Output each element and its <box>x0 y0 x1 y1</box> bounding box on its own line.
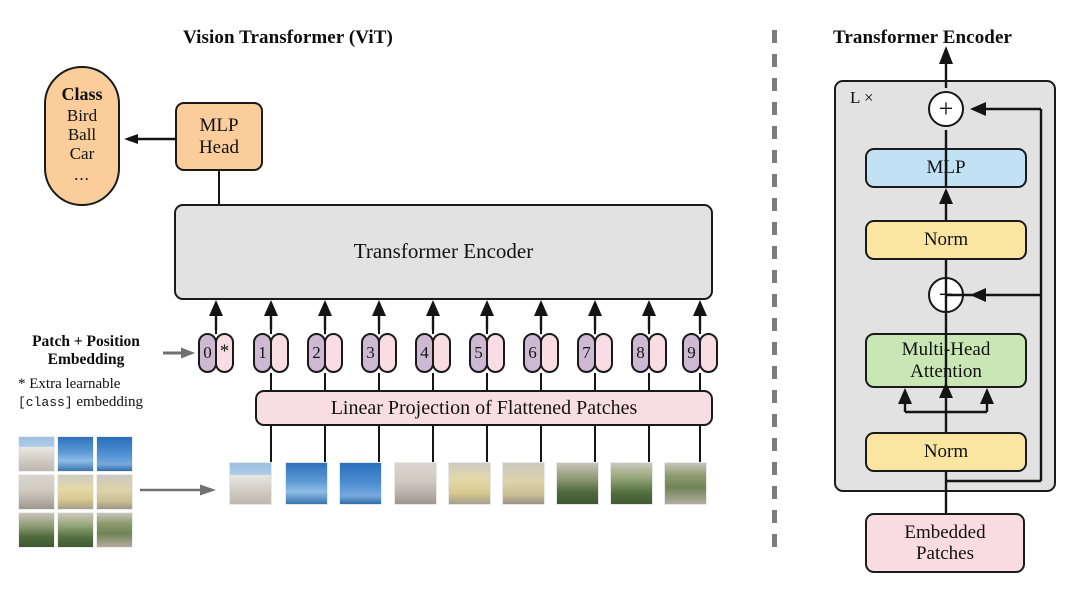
connector-encoder-to-mlphead <box>218 170 220 206</box>
left-panel-title: Vision Transformer (ViT) <box>183 27 393 49</box>
flattened-image-patch <box>285 462 328 505</box>
class-item-car: Car <box>70 144 95 163</box>
class-token-asterisk: * <box>215 333 234 373</box>
patch-embedding-token <box>324 333 343 373</box>
vit-architecture-figure: Vision Transformer (ViT) Transformer Enc… <box>0 0 1080 593</box>
flattened-image-patch <box>394 462 437 505</box>
embedding-token-8: 8 <box>631 333 667 373</box>
source-image-patch-cell <box>57 474 94 510</box>
linear-projection-label: Linear Projection of Flattened Patches <box>331 397 638 419</box>
patch-embedding-token <box>699 333 718 373</box>
mlp-head-label-line1: MLP <box>199 115 238 136</box>
flattened-image-patch <box>229 462 272 505</box>
source-image-patch-cell <box>18 474 55 510</box>
residual-add-top: + <box>928 91 964 127</box>
patch-position-label-line2: Embedding <box>48 351 125 368</box>
layer-repeat-label: L × <box>850 88 874 108</box>
projection-to-patch-stem <box>540 426 542 463</box>
token-top-stem <box>270 318 272 334</box>
encoder-multihead-attention-block: Multi-Head Attention <box>865 333 1027 388</box>
embedded-patches-block: Embedded Patches <box>865 513 1025 573</box>
encoder-norm-upper-label: Norm <box>924 229 968 250</box>
flattened-image-patch <box>448 462 491 505</box>
class-item-ball: Ball <box>68 125 96 144</box>
projection-to-patch-stem <box>648 426 650 463</box>
class-token-code: [class] <box>18 395 73 410</box>
right-panel-title: Transformer Encoder <box>833 27 1012 49</box>
projection-to-patch-stem <box>324 426 326 463</box>
embedded-patches-line2: Patches <box>916 543 974 564</box>
encoder-norm-lower-label: Norm <box>924 441 968 462</box>
token-to-projection-stem <box>699 373 701 391</box>
source-image-patch-cell <box>57 436 94 472</box>
projection-to-patch-stem <box>486 426 488 463</box>
token-to-projection-stem <box>378 373 380 391</box>
projection-to-patch-stem <box>594 426 596 463</box>
patch-embedding-token <box>486 333 505 373</box>
token-to-projection-stem <box>540 373 542 391</box>
arrow-label-to-tokens <box>163 347 195 359</box>
source-image-patch-cell <box>96 436 133 472</box>
source-image-patch-cell <box>18 512 55 548</box>
patch-embedding-token <box>540 333 559 373</box>
patch-embedding-token <box>270 333 289 373</box>
flattened-image-patch <box>664 462 707 505</box>
projection-to-patch-stem <box>432 426 434 463</box>
patch-embedding-token <box>378 333 397 373</box>
transformer-encoder-block: Transformer Encoder <box>174 204 713 300</box>
token-to-projection-stem <box>432 373 434 391</box>
mlp-head-box: MLP Head <box>175 102 263 171</box>
encoder-mlp-label: MLP <box>926 157 965 178</box>
token-to-projection-stem <box>594 373 596 391</box>
token-to-projection-stem <box>648 373 650 391</box>
transformer-encoder-label: Transformer Encoder <box>354 240 533 264</box>
embedding-token-0: 0* <box>198 333 234 373</box>
class-items-ellipsis: ... <box>74 165 90 184</box>
token-top-stem <box>378 318 380 334</box>
mha-label-line2: Attention <box>910 361 982 382</box>
flattened-image-patch <box>339 462 382 505</box>
embedding-token-5: 5 <box>469 333 505 373</box>
encoder-mlp-block: MLP <box>865 148 1027 188</box>
projection-to-patch-stem <box>699 426 701 463</box>
embedding-token-2: 2 <box>307 333 343 373</box>
token-top-stem <box>594 318 596 334</box>
source-image-patch-grid <box>18 436 135 551</box>
token-to-projection-stem <box>486 373 488 391</box>
token-to-projection-stem <box>324 373 326 391</box>
class-item-bird: Bird <box>67 106 97 125</box>
patch-embedding-token <box>432 333 451 373</box>
token-to-projection-stem <box>270 373 272 391</box>
arrow-mlphead-to-class <box>124 134 176 144</box>
projection-to-patch-stem <box>378 426 380 463</box>
projection-to-patch-stem <box>270 426 272 463</box>
source-image-patch-cell <box>96 512 133 548</box>
extra-learnable-class-note: * Extra learnable [class] embedding <box>18 375 168 411</box>
embedded-patches-line1: Embedded <box>904 522 985 543</box>
token-top-stem <box>648 318 650 334</box>
mha-label-line1: Multi-Head <box>902 339 991 360</box>
source-image-patch-cell <box>57 512 94 548</box>
encoder-norm-block-upper: Norm <box>865 220 1027 260</box>
class-label-header: Class <box>61 84 102 104</box>
encoder-norm-block-lower: Norm <box>865 432 1027 472</box>
token-top-stem <box>432 318 434 334</box>
flattened-image-patch <box>502 462 545 505</box>
panel-divider <box>772 30 777 555</box>
embedding-token-7: 7 <box>577 333 613 373</box>
embedding-token-4: 4 <box>415 333 451 373</box>
source-image-patch-cell <box>96 474 133 510</box>
token-top-stem <box>324 318 326 334</box>
patch-position-label-line1: Patch + Position <box>32 333 140 350</box>
embedding-token-1: 1 <box>253 333 289 373</box>
flattened-image-patch <box>610 462 653 505</box>
arrow-sourcegrid-to-patches <box>140 484 216 496</box>
embedding-token-9: 9 <box>682 333 718 373</box>
mlp-head-label-line2: Head <box>199 137 239 158</box>
embedding-token-6: 6 <box>523 333 559 373</box>
extra-learnable-note-line1: * Extra learnable <box>18 376 120 392</box>
embedding-token-3: 3 <box>361 333 397 373</box>
token-top-stem <box>486 318 488 334</box>
patch-embedding-token <box>594 333 613 373</box>
source-image-patch-cell <box>18 436 55 472</box>
patch-embedding-token <box>648 333 667 373</box>
residual-add-middle: + <box>928 277 964 313</box>
extra-learnable-note-line2-rest: embedding <box>73 394 143 410</box>
class-output-pill: Class Bird Ball Car ... <box>44 66 120 206</box>
flattened-image-patch <box>556 462 599 505</box>
linear-projection-bar: Linear Projection of Flattened Patches <box>255 390 713 426</box>
token-top-stem <box>215 318 217 334</box>
token-top-stem <box>540 318 542 334</box>
token-top-stem <box>699 318 701 334</box>
patch-position-embedding-label: Patch + Position Embedding <box>10 333 162 368</box>
